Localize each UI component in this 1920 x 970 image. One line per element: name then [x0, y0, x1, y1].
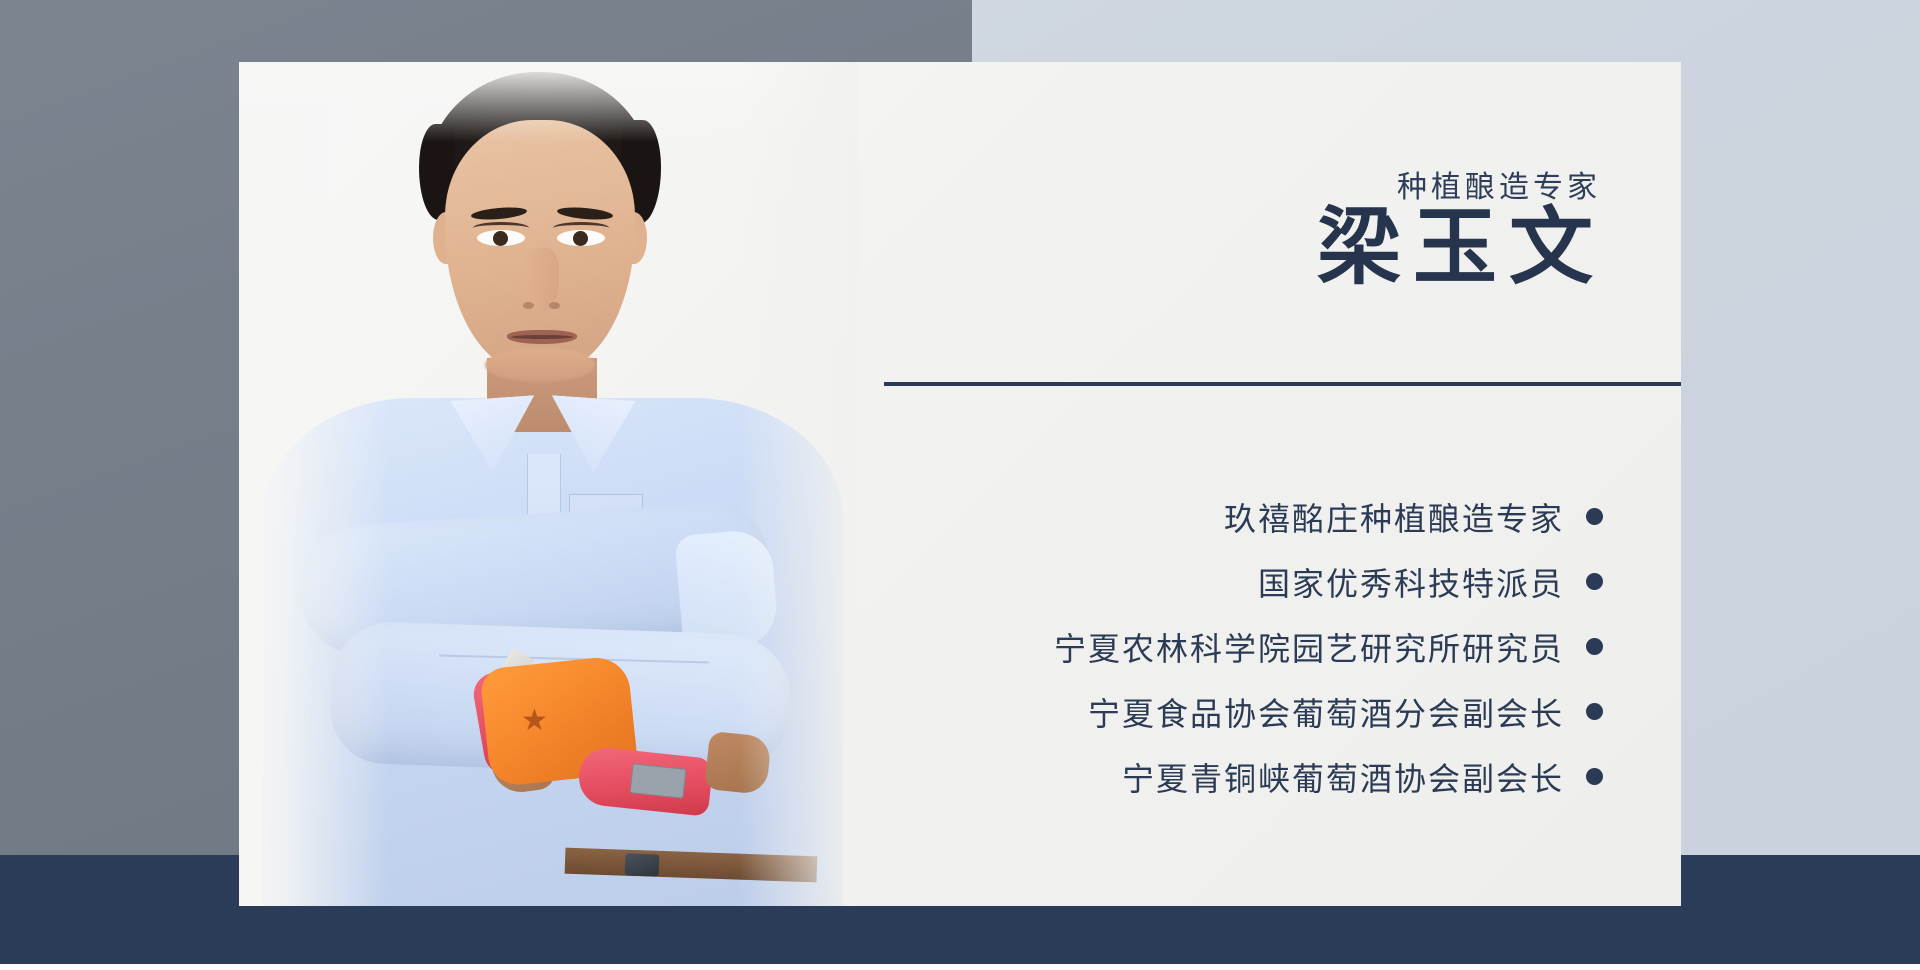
- person-name: 梁玉文: [1317, 202, 1605, 296]
- portrait-belt-buckle: [625, 853, 660, 876]
- glove-star-icon: ★: [521, 706, 551, 736]
- credential-label: 宁夏青铜峡葡萄酒协会副会长: [1122, 754, 1564, 800]
- portrait-chin: [485, 348, 595, 382]
- profile-card: ★ 种植酿造专家 梁玉文 玖禧酩庄种植酿造专家: [239, 62, 1681, 906]
- horizontal-divider: [884, 382, 1681, 386]
- expert-title-eyebrow: 种植酿造专家: [1397, 162, 1601, 206]
- portrait-eye-left: [477, 230, 525, 246]
- credentials-list: 玖禧酩庄种植酿造专家 国家优秀科技特派员 宁夏农林科学院园艺研究所研究员 宁夏食…: [883, 484, 1603, 809]
- list-item: 玖禧酩庄种植酿造专家: [883, 484, 1603, 549]
- bullet-dot-icon: [1586, 508, 1603, 525]
- bullet-dot-icon: [1586, 638, 1603, 655]
- profile-text-column: 种植酿造专家 梁玉文 玖禧酩庄种植酿造专家 国家优秀科技特派员 宁夏农林科学院园…: [879, 62, 1681, 906]
- portrait-photo: ★: [239, 62, 859, 906]
- portrait-mouth: [507, 330, 577, 344]
- credential-label: 宁夏农林科学院园艺研究所研究员: [1054, 624, 1564, 670]
- poster-stage: ★ 种植酿造专家 梁玉文 玖禧酩庄种植酿造专家: [0, 0, 1920, 970]
- list-item: 国家优秀科技特派员: [883, 549, 1603, 614]
- portrait-nostril-right: [549, 302, 560, 309]
- portrait-fade-left: [239, 62, 389, 906]
- portrait-nose: [523, 248, 559, 310]
- portrait-eye-right: [557, 230, 605, 246]
- background-bottom-edge: [0, 964, 1920, 970]
- bullet-dot-icon: [1586, 573, 1603, 590]
- list-item: 宁夏青铜峡葡萄酒协会副会长: [883, 744, 1603, 809]
- pruning-shears-label: [630, 763, 687, 798]
- credential-label: 国家优秀科技特派员: [1258, 559, 1564, 605]
- portrait-fade-right: [739, 62, 859, 906]
- credential-label: 玖禧酩庄种植酿造专家: [1224, 494, 1564, 540]
- bullet-dot-icon: [1586, 768, 1603, 785]
- bullet-dot-icon: [1586, 703, 1603, 720]
- portrait-nostril-left: [523, 302, 534, 309]
- list-item: 宁夏农林科学院园艺研究所研究员: [883, 614, 1603, 679]
- credential-label: 宁夏食品协会葡萄酒分会副会长: [1088, 689, 1564, 735]
- list-item: 宁夏食品协会葡萄酒分会副会长: [883, 679, 1603, 744]
